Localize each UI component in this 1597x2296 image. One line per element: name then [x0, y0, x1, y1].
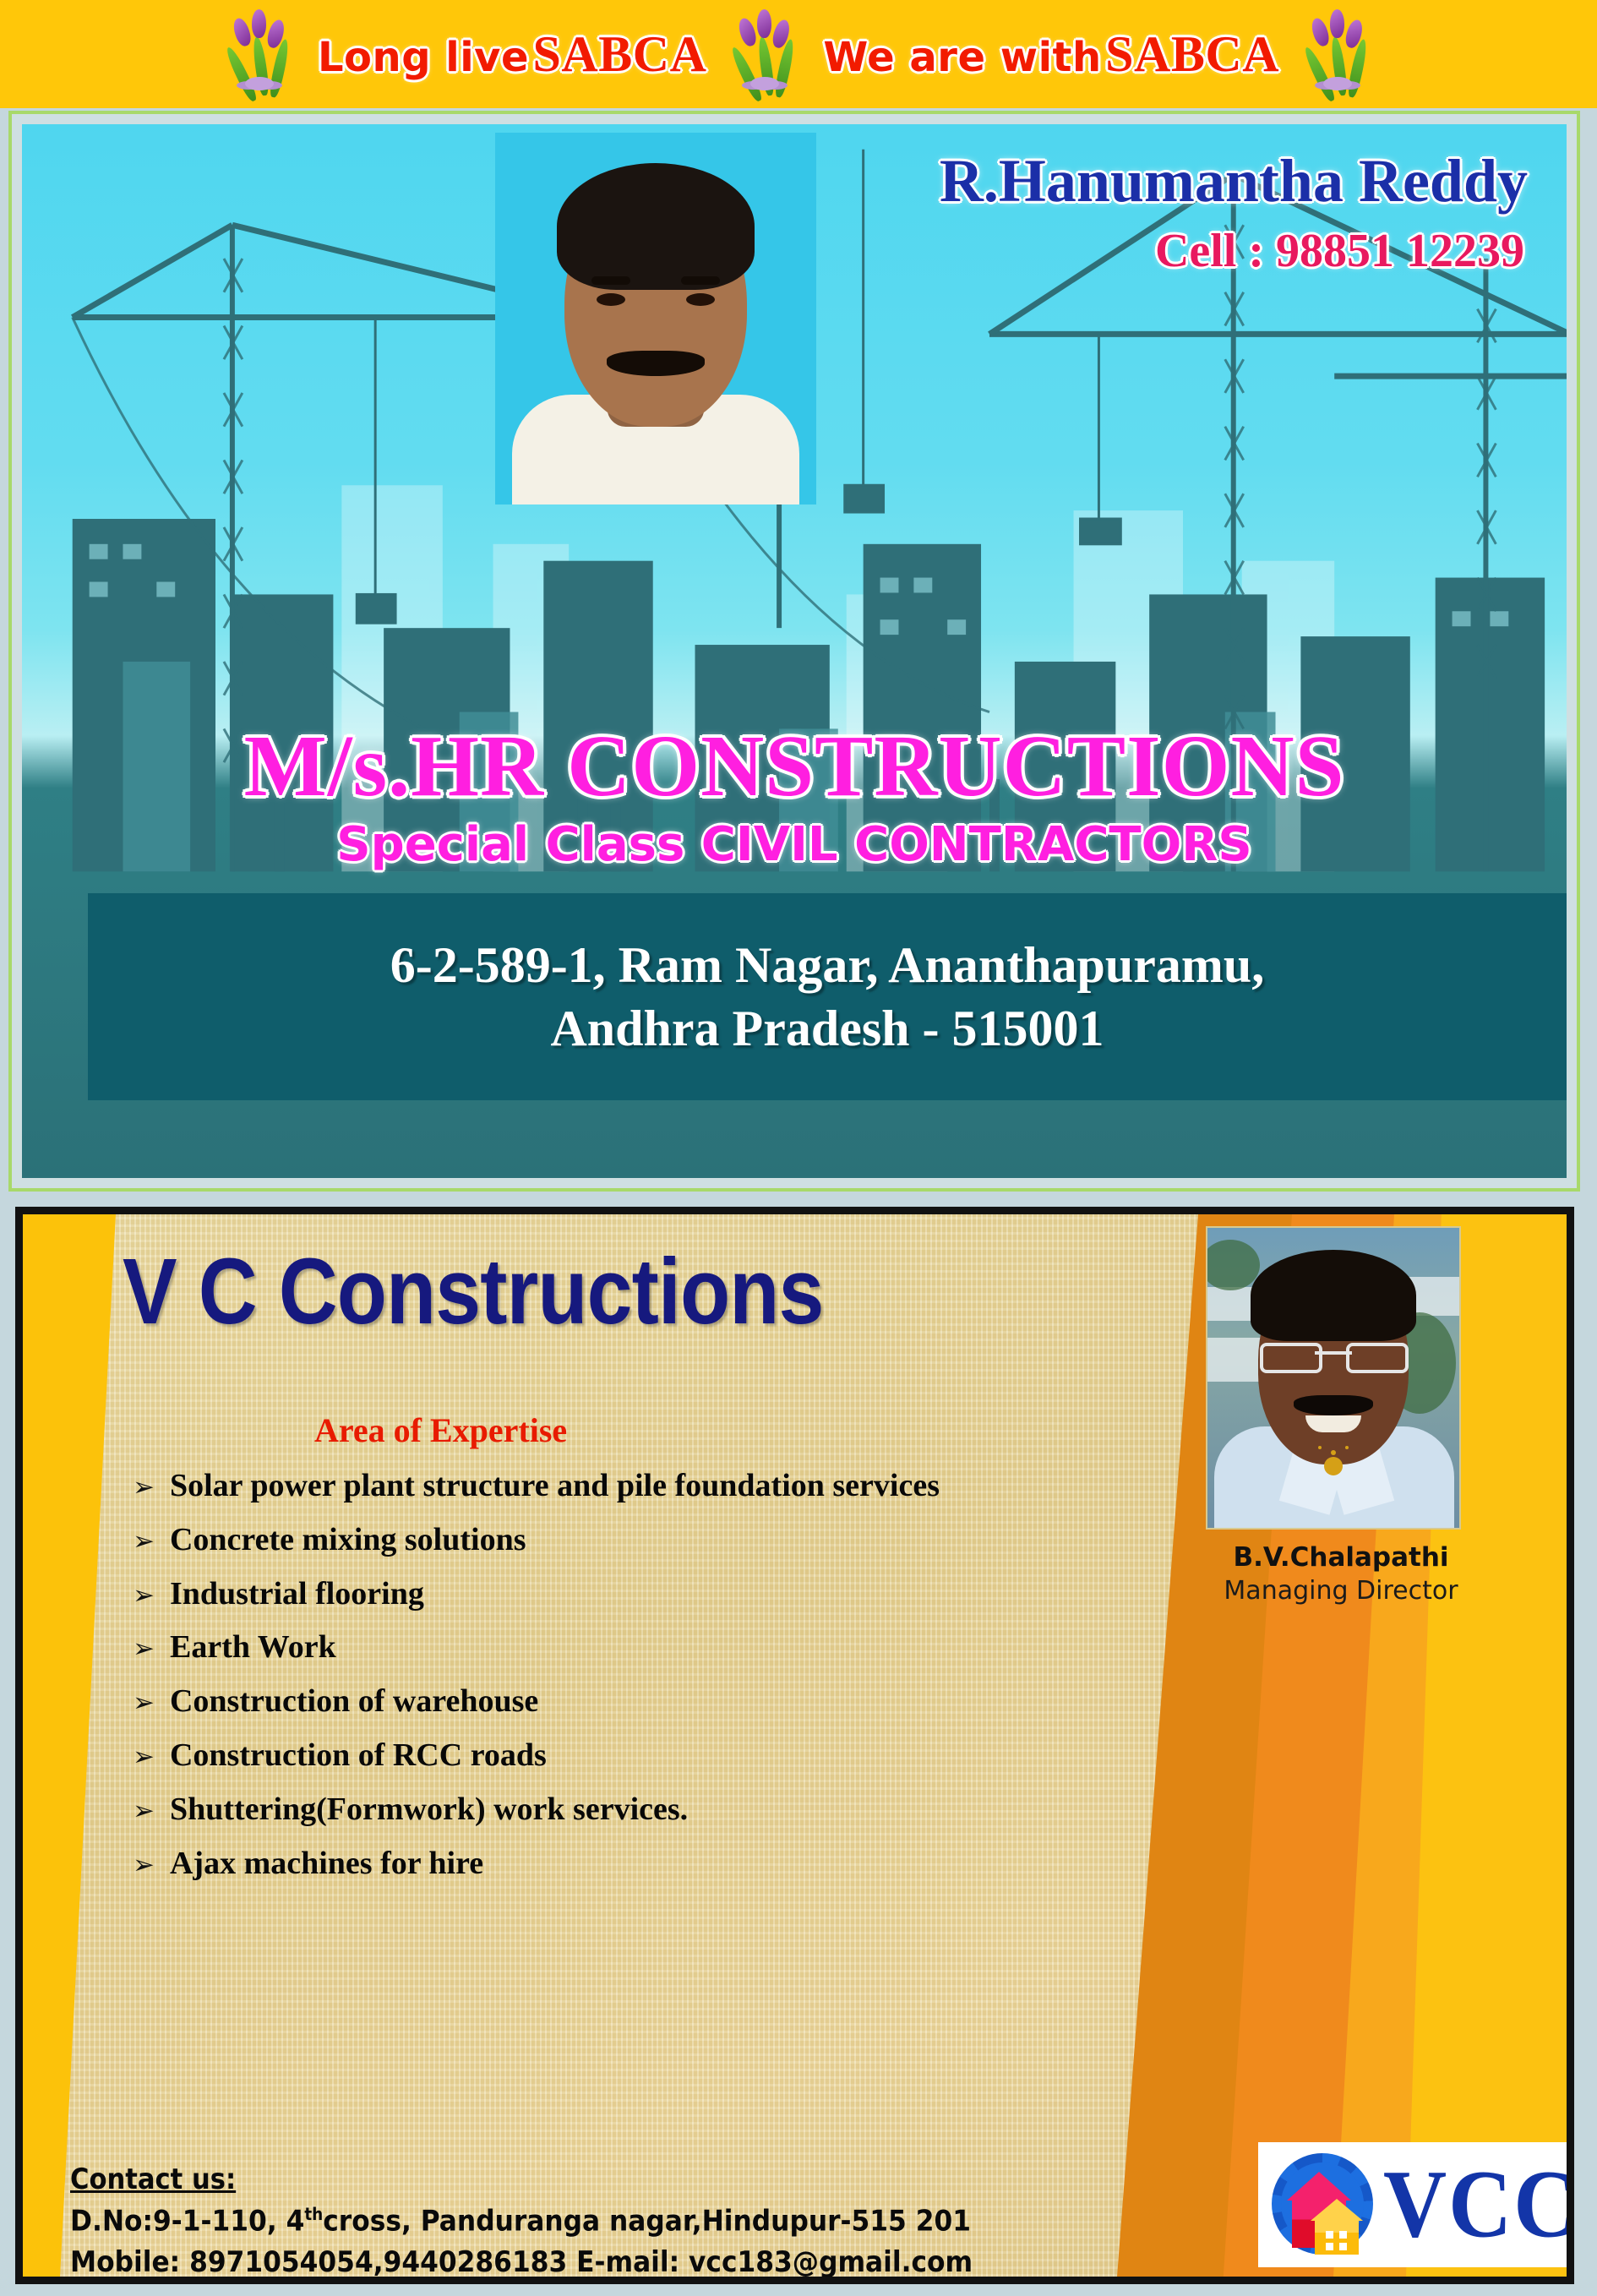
- arrow-bullet-icon: ➢: [133, 1681, 155, 1725]
- vc-director-photo: [1206, 1226, 1461, 1530]
- arrow-bullet-icon: ➢: [133, 1519, 155, 1563]
- flower-bouquet-icon: [226, 8, 292, 101]
- list-item-label: Earth Work: [170, 1621, 336, 1675]
- list-item-label: Construction of RCC roads: [170, 1729, 547, 1783]
- list-item: ➢Ajax machines for hire: [133, 1837, 940, 1891]
- hr-address-block: 6-2-589-1, Ram Nagar, Ananthapuramu, And…: [88, 893, 1567, 1100]
- sabca-left-text: Long live SABCA: [318, 25, 706, 84]
- list-item: ➢Construction of RCC roads: [133, 1729, 940, 1783]
- contact-address-ordinal: th: [304, 2204, 323, 2224]
- hr-cell-number: Cell : 98851 12239: [1155, 224, 1524, 278]
- arrow-bullet-icon: ➢: [133, 1573, 155, 1617]
- list-item-label: Shuttering(Formwork) work services.: [170, 1783, 688, 1837]
- contact-heading: Contact us:: [70, 2162, 953, 2196]
- hr-company-title: M/s.HR CONSTRUCTIONS: [22, 716, 1567, 816]
- list-item: ➢Concrete mixing solutions: [133, 1513, 940, 1568]
- list-item-label: Ajax machines for hire: [170, 1837, 483, 1891]
- director-role: Managing Director: [1206, 1576, 1476, 1606]
- list-item: ➢Shuttering(Formwork) work services.: [133, 1783, 940, 1837]
- contact-mobile-email: Mobile: 8971054054,9440286183 E-mail: vc…: [70, 2245, 973, 2279]
- arrow-bullet-icon: ➢: [133, 1627, 155, 1671]
- arrow-bullet-icon: ➢: [133, 1789, 155, 1833]
- list-item-label: Industrial flooring: [170, 1568, 424, 1622]
- sabca-right-text: We are with SABCA: [823, 25, 1279, 84]
- expertise-list: ➢Solar power plant structure and pile fo…: [133, 1459, 940, 1891]
- hr-director-photo: [495, 133, 816, 504]
- director-name: B.V.Chalapathi: [1206, 1542, 1476, 1573]
- arrow-bullet-icon: ➢: [133, 1843, 155, 1887]
- hr-constructions-card: R.Hanumantha Reddy Cell : 98851 12239 M/…: [8, 111, 1580, 1192]
- expertise-heading: Area of Expertise: [314, 1410, 567, 1450]
- vc-contact-block: Contact us: D.No:9-1-110, 4thcross, Pand…: [70, 2162, 1051, 2279]
- vc-constructions-card: V C Constructions Area of Expertise ➢Sol…: [15, 1207, 1574, 2284]
- vc-director-caption: B.V.Chalapathi Managing Director: [1206, 1542, 1476, 1606]
- arrow-bullet-icon: ➢: [133, 1465, 155, 1509]
- contact-address-prefix: D.No:9-1-110, 4: [70, 2204, 304, 2238]
- contact-address: D.No:9-1-110, 4thcross, Panduranga nagar…: [70, 2204, 973, 2238]
- list-item: ➢Solar power plant structure and pile fo…: [133, 1459, 940, 1513]
- list-item-label: Concrete mixing solutions: [170, 1513, 526, 1568]
- list-item: ➢Industrial flooring: [133, 1568, 940, 1622]
- list-item: ➢Construction of warehouse: [133, 1675, 940, 1729]
- flower-bouquet-icon: [732, 8, 798, 101]
- list-item-label: Solar power plant structure and pile fou…: [170, 1459, 940, 1513]
- hr-person-name: R.Hanumantha Reddy: [940, 146, 1528, 216]
- vcc-logo-text: VCC: [1383, 2157, 1574, 2253]
- sabca-banner: Long live SABCA We are with SABCA: [0, 0, 1597, 108]
- list-item: ➢Earth Work: [133, 1621, 940, 1675]
- hr-address-line-1: 6-2-589-1, Ram Nagar, Ananthapuramu,: [390, 936, 1265, 995]
- arrow-bullet-icon: ➢: [133, 1735, 155, 1779]
- contact-address-suffix: cross, Panduranga nagar,Hindupur-515 201: [323, 2204, 971, 2238]
- vcc-gear-house-icon: [1267, 2150, 1378, 2260]
- hr-company-subtitle: Special Class CIVIL CONTRACTORS: [22, 817, 1567, 872]
- hr-address-line-2: Andhra Pradesh - 515001: [550, 1000, 1104, 1058]
- vc-company-title: V C Constructions: [123, 1238, 823, 1345]
- flower-bouquet-icon: [1305, 8, 1371, 101]
- list-item-label: Construction of warehouse: [170, 1675, 538, 1729]
- vcc-logo: VCC: [1258, 2142, 1574, 2267]
